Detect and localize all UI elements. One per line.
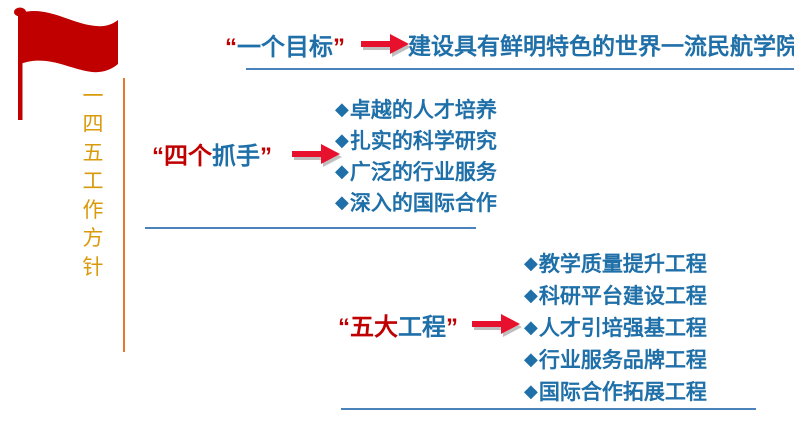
projects-bullet-list: ◆ 教学质量提升工程 ◆ 科研平台建设工程 ◆ 人才引培强基工程 ◆ 行业服务品…: [524, 247, 707, 407]
goal-label-text: 一个目标: [237, 34, 333, 61]
goal-close-quote: ”: [333, 34, 345, 61]
list-item-label: 人才引培强基工程: [539, 312, 707, 342]
projects-close-quote: ”: [446, 314, 458, 341]
list-item: ◆ 国际合作拓展工程: [524, 375, 707, 407]
vertical-motto: 一 四 五 工 作 方 针: [76, 82, 110, 281]
list-item: ◆ 扎实的科学研究: [335, 124, 497, 155]
hands-label-red: 四个: [164, 143, 212, 170]
hands-close-quote: ”: [260, 143, 272, 170]
goal-open-quote: “: [225, 34, 237, 61]
goal-label: “一个目标”: [225, 27, 345, 62]
diamond-bullet-icon: ◆: [524, 286, 538, 304]
diamond-bullet-icon: ◆: [335, 193, 349, 211]
list-item: ◆ 广泛的行业服务: [335, 155, 497, 186]
list-item-label: 卓越的人才培养: [350, 94, 497, 124]
vertical-divider: [123, 78, 125, 352]
projects-label-blue: 工程: [398, 314, 446, 341]
hands-open-quote: “: [152, 143, 164, 170]
projects-open-quote: “: [338, 314, 350, 341]
slide-canvas: 一 四 五 工 作 方 针 “一个目标” 建设具有鲜明特色的世界一流民航学院 “…: [0, 0, 794, 422]
list-item-label: 国际合作拓展工程: [539, 376, 707, 406]
list-item: ◆ 深入的国际合作: [335, 186, 497, 217]
list-item-label: 行业服务品牌工程: [539, 344, 707, 374]
right-arrow-icon-goal: [357, 31, 413, 57]
list-item-label: 深入的国际合作: [350, 187, 497, 217]
diamond-bullet-icon: ◆: [524, 382, 538, 400]
diamond-bullet-icon: ◆: [524, 254, 538, 272]
diamond-bullet-icon: ◆: [335, 100, 349, 118]
list-item-label: 扎实的科学研究: [350, 125, 497, 155]
hands-bullet-list: ◆ 卓越的人才培养 ◆ 扎实的科学研究 ◆ 广泛的行业服务 ◆ 深入的国际合作: [335, 93, 497, 217]
goal-statement: 建设具有鲜明特色的世界一流民航学院: [408, 27, 794, 61]
divider-bottom: [341, 408, 756, 410]
list-item: ◆ 卓越的人才培养: [335, 93, 497, 124]
diamond-bullet-icon: ◆: [335, 162, 349, 180]
projects-label: “五大工程”: [338, 307, 458, 342]
list-item: ◆ 教学质量提升工程: [524, 247, 707, 279]
divider-middle: [145, 227, 476, 229]
hands-label: “四个抓手”: [152, 136, 272, 171]
projects-label-red: 五大: [350, 314, 398, 341]
list-item: ◆ 人才引培强基工程: [524, 311, 707, 343]
right-arrow-icon-projects: [468, 311, 524, 337]
diamond-bullet-icon: ◆: [335, 131, 349, 149]
hands-label-blue: 抓手: [212, 143, 260, 170]
list-item-label: 教学质量提升工程: [539, 248, 707, 278]
divider-top: [246, 68, 794, 70]
red-flag-icon: [8, 2, 138, 122]
diamond-bullet-icon: ◆: [524, 318, 538, 336]
list-item-label: 科研平台建设工程: [539, 280, 707, 310]
list-item-label: 广泛的行业服务: [350, 156, 497, 186]
list-item: ◆ 科研平台建设工程: [524, 279, 707, 311]
list-item: ◆ 行业服务品牌工程: [524, 343, 707, 375]
diamond-bullet-icon: ◆: [524, 350, 538, 368]
